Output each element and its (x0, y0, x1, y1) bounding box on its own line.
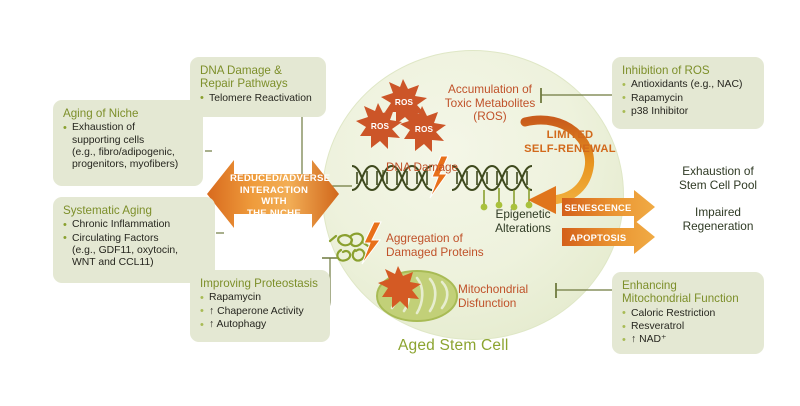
list-item: Caloric Restriction (622, 308, 755, 320)
list-item: Antioxidants (e.g., NAC) (622, 79, 755, 91)
limited-self-renewal-label: LIMITED SELF-RENEWAL (521, 129, 619, 156)
box-systematic-aging[interactable]: Systematic Aging Chronic Inflammation Ci… (53, 197, 215, 283)
box-title: DNA Damage & Repair Pathways (200, 64, 317, 91)
list-item: Chronic Inflammation (63, 219, 206, 231)
list-item: p38 Inhibitor (622, 106, 755, 118)
box-title: Aging of Niche (63, 107, 194, 120)
box-item-list: Exhaustion of supporting cells (e.g., fi… (63, 122, 194, 171)
box-item-list: Antioxidants (e.g., NAC) Rapamycin p38 I… (622, 79, 755, 118)
box-aging-of-niche[interactable]: Aging of Niche Exhaustion of supporting … (53, 100, 203, 186)
apoptosis-arrow-label: APOPTOSIS (562, 232, 634, 243)
box-dna-damage-repair-pathways[interactable]: DNA Damage & Repair Pathways Telomere Re… (190, 57, 326, 117)
box-title: Improving Proteostasis (200, 277, 321, 290)
list-item: Resveratrol (622, 321, 755, 333)
mitochondrial-dysfunction-label: Mitochondrial Disfunction (458, 283, 558, 310)
list-item: Circulating Factors (e.g., GDF11, oxytoc… (63, 233, 206, 270)
exhaustion-stem-cell-pool-label: Exhaustion of Stem Cell Pool (654, 164, 782, 192)
box-title: Systematic Aging (63, 204, 206, 217)
box-improving-proteostasis[interactable]: Improving Proteostasis Rapamycin ↑ Chape… (190, 270, 330, 342)
aged-stem-cell-label: Aged Stem Cell (398, 337, 509, 355)
box-title: Enhancing Mitochondrial Function (622, 279, 755, 306)
list-item: ↑ Chaperone Activity (200, 306, 321, 318)
list-item: ↑ Autophagy (200, 319, 321, 331)
niche-interaction-arrow-label: REDUCED/ADVERSE INTERACTION WITH THE NIC… (230, 173, 318, 219)
epigenetic-alterations-label: Epigenetic Alterations (477, 207, 569, 235)
dna-damage-label: DNA Damage (386, 161, 472, 175)
box-item-list: Caloric Restriction Resveratrol ↑ NAD⁺ (622, 308, 755, 347)
box-title: Inhibition of ROS (622, 64, 755, 77)
list-item: ↑ NAD⁺ (622, 334, 755, 346)
list-item: Rapamycin (200, 292, 321, 304)
ros-burst-label: ROS (360, 120, 400, 132)
senescence-arrow-label: SENESCENCE (562, 202, 634, 213)
box-inhibition-of-ros[interactable]: Inhibition of ROS Antioxidants (e.g., NA… (612, 57, 764, 129)
impaired-regeneration-label: Impaired Regeneration (654, 205, 782, 233)
box-item-list: Telomere Reactivation (200, 93, 317, 105)
box-enhancing-mitochondrial-function[interactable]: Enhancing Mitochondrial Function Caloric… (612, 272, 764, 354)
list-item: Exhaustion of supporting cells (e.g., fi… (63, 122, 194, 171)
list-item: Telomere Reactivation (200, 93, 317, 105)
ros-burst-label: ROS (404, 123, 444, 135)
ros-accumulation-label: Accumulation of Toxic Metabolites (ROS) (428, 83, 552, 124)
ros-burst-label: ROS (384, 96, 424, 108)
box-item-list: Chronic Inflammation Circulating Factors… (63, 219, 206, 269)
box-item-list: Rapamycin ↑ Chaperone Activity ↑ Autopha… (200, 292, 321, 331)
list-item: Rapamycin (622, 93, 755, 105)
diagram-canvas: ROS ROS ROS (0, 0, 800, 406)
protein-aggregation-label: Aggregation of Damaged Proteins (386, 232, 490, 259)
